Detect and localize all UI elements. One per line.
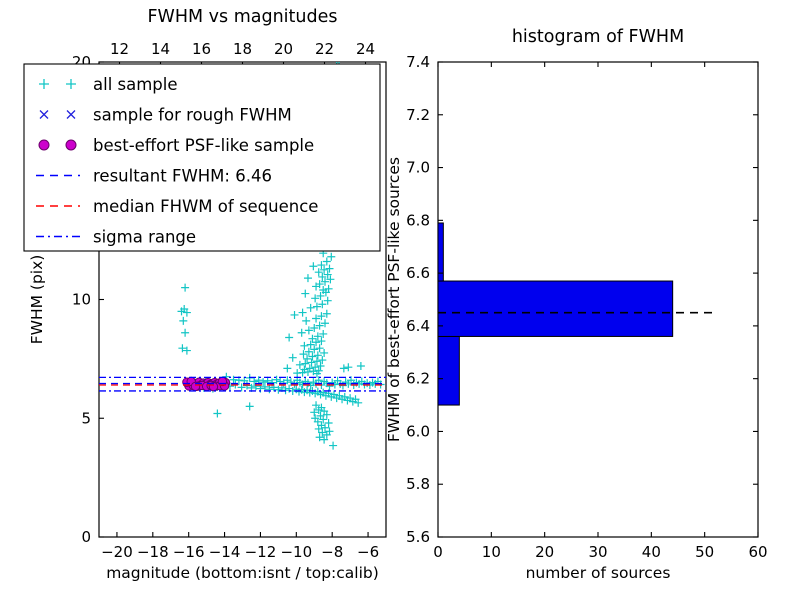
plus-icon xyxy=(181,329,189,337)
plus-icon xyxy=(317,362,325,370)
x-ticklabel-top: 16 xyxy=(192,40,211,58)
plus-icon xyxy=(300,342,308,350)
plus-icon xyxy=(293,369,301,377)
plus-icon xyxy=(302,317,310,325)
plus-icon xyxy=(316,344,324,352)
legend-label: best-effort PSF-like sample xyxy=(93,136,314,155)
histogram-bar xyxy=(438,223,443,281)
plus-icon xyxy=(307,304,315,312)
x-ticklabel-top: 20 xyxy=(274,40,293,58)
left-plot-ylabel: FWHM (pix) xyxy=(28,255,46,345)
plus-icon xyxy=(340,364,348,372)
y-ticklabel: 6.6 xyxy=(406,264,430,282)
plus-icon xyxy=(291,311,299,319)
x-ticklabel-top: 24 xyxy=(356,40,375,58)
plus-icon xyxy=(179,317,187,325)
x-ticklabel: 40 xyxy=(642,543,661,561)
x-ticklabel: 0 xyxy=(433,543,443,561)
x-ticklabel-top: 12 xyxy=(110,40,129,58)
plus-icon xyxy=(283,364,291,372)
legend-box xyxy=(24,64,380,251)
plus-icon xyxy=(276,377,284,385)
y-ticklabel: 6.2 xyxy=(406,370,430,388)
plus-icon xyxy=(298,329,306,337)
y-ticklabel: 6.0 xyxy=(406,422,430,440)
x-ticklabel-bottom: −6 xyxy=(357,543,379,561)
left-plot-xlabel: magnitude (bottom:isnt / top:calib) xyxy=(106,564,379,582)
y-ticklabel: 5.6 xyxy=(406,528,430,546)
plus-icon xyxy=(301,290,309,298)
legend-label: median FHWM of sequence xyxy=(93,197,318,216)
plus-icon xyxy=(301,360,309,368)
matplotlib-figure: −20−18−16−14−12−10−8−6121416182022240510… xyxy=(0,0,800,600)
left-plot-title: FWHM vs magnitudes xyxy=(147,7,337,27)
y-ticklabel: 7.4 xyxy=(406,53,430,71)
histogram-bar xyxy=(438,336,459,405)
right-plot-ylabel: FWHM of best-effort PSF-like sources xyxy=(385,157,403,442)
plus-icon xyxy=(329,442,337,450)
plus-icon xyxy=(357,362,365,370)
plus-icon xyxy=(289,354,297,362)
plus-icon xyxy=(317,337,325,345)
x-ticklabel-top: 22 xyxy=(315,40,334,58)
y-ticklabel: 7.0 xyxy=(406,159,430,177)
plus-icon xyxy=(299,309,307,317)
y-ticklabel-left: 0 xyxy=(81,528,91,546)
histogram-bars xyxy=(438,223,673,405)
plus-icon xyxy=(311,363,319,371)
right-plot-title: histogram of FWHM xyxy=(512,27,684,47)
y-ticklabel: 6.4 xyxy=(406,317,430,335)
x-ticklabel-bottom: −12 xyxy=(245,543,277,561)
plus-icon xyxy=(313,357,321,365)
plus-icon xyxy=(304,274,312,282)
legend-label: sigma range xyxy=(93,228,196,247)
x-ticklabel-top: 14 xyxy=(151,40,170,58)
x-ticklabel-bottom: −10 xyxy=(280,543,312,561)
plus-icon xyxy=(324,297,332,305)
x-ticklabel: 20 xyxy=(535,543,554,561)
y-ticklabel-left: 5 xyxy=(81,409,91,427)
right-plot-xlabel: number of sources xyxy=(526,564,671,582)
x-ticklabel: 30 xyxy=(588,543,607,561)
plus-icon xyxy=(246,402,254,410)
plus-icon xyxy=(181,284,189,292)
legend-label: resultant FWHM: 6.46 xyxy=(93,167,272,186)
y-ticklabel: 7.2 xyxy=(406,106,430,124)
x-ticklabel-top: 18 xyxy=(233,40,252,58)
plus-icon xyxy=(344,363,352,371)
circle-icon xyxy=(39,140,49,150)
y-ticklabel: 5.8 xyxy=(406,475,430,493)
plus-icon xyxy=(327,253,335,261)
plus-icon xyxy=(318,356,326,364)
x-ticklabel: 50 xyxy=(695,543,714,561)
plus-icon xyxy=(325,265,333,273)
plus-icon xyxy=(309,262,317,270)
plus-icon xyxy=(296,361,304,369)
x-ticklabel-bottom: −20 xyxy=(101,543,133,561)
x-ticklabel: 10 xyxy=(482,543,501,561)
plus-icon xyxy=(308,358,316,366)
x-ticklabel: 60 xyxy=(748,543,767,561)
y-ticklabel-left: 10 xyxy=(72,291,91,309)
x-ticklabel-bottom: −8 xyxy=(321,543,343,561)
legend-label: sample for rough FWHM xyxy=(93,106,292,125)
plus-icon xyxy=(213,410,221,418)
x-ticklabel-bottom: −18 xyxy=(137,543,169,561)
x-ticklabel-bottom: −16 xyxy=(173,543,205,561)
figure-canvas: −20−18−16−14−12−10−8−6121416182022240510… xyxy=(0,0,800,600)
histogram-bar xyxy=(438,281,673,336)
x-ticklabel-bottom: −14 xyxy=(209,543,241,561)
legend-label: all sample xyxy=(93,75,178,94)
plus-icon xyxy=(323,258,331,266)
plus-icon xyxy=(325,419,333,427)
circle-icon xyxy=(66,140,76,150)
y-ticklabel: 6.8 xyxy=(406,211,430,229)
plus-icon xyxy=(285,334,293,342)
